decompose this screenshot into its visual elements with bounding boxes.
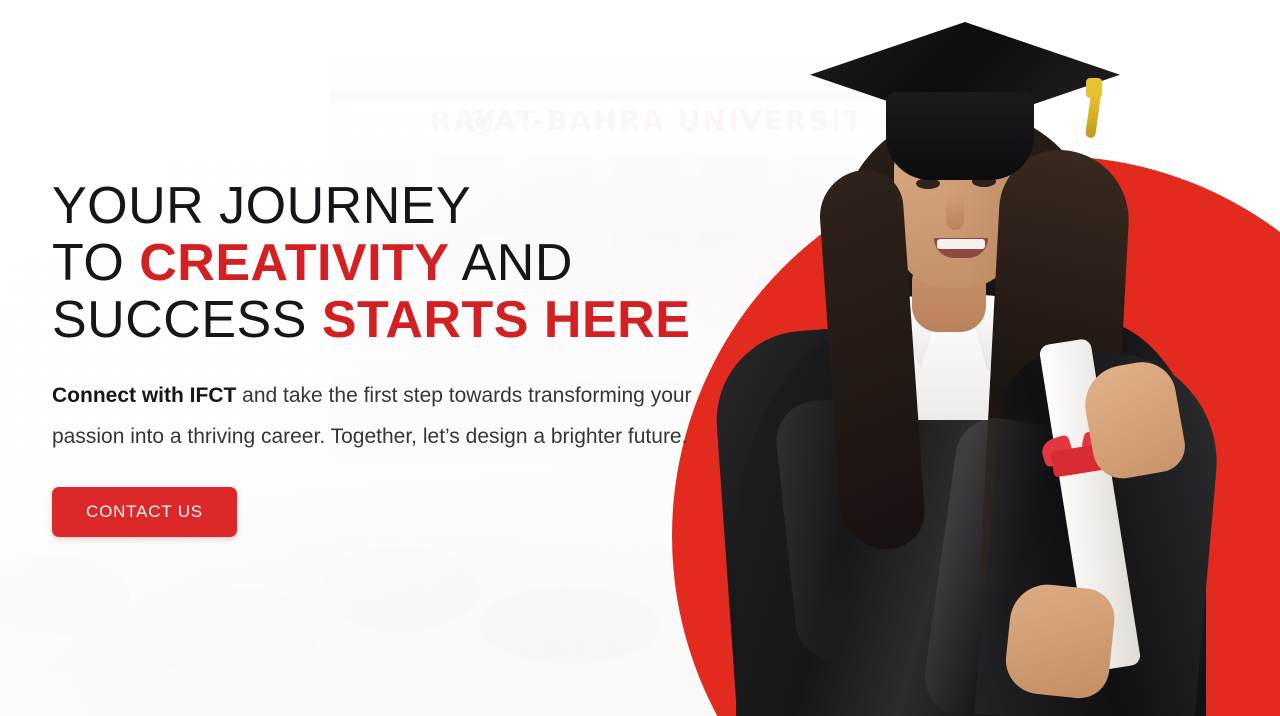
hand-lower — [1003, 581, 1118, 701]
headline-accent-creativity: CREATIVITY — [139, 234, 449, 292]
nose — [946, 196, 964, 230]
headline-line-2-suffix: AND — [450, 234, 573, 292]
headline-accent-starts-here: STARTS HERE — [322, 291, 691, 349]
contact-us-button[interactable]: CONTACT US — [52, 487, 237, 537]
headline-line-2-prefix: TO — [52, 234, 139, 292]
teeth — [937, 239, 985, 249]
gold-tassel-tail — [1085, 94, 1101, 139]
graduate-figure — [690, 0, 1280, 716]
cap-crown — [886, 92, 1034, 180]
headline-line-3-prefix: SUCCESS — [52, 291, 322, 349]
page-title: YOUR JOURNEY TO CREATIVITY AND SUCCESS S… — [52, 178, 692, 349]
headline-line-1: YOUR JOURNEY — [52, 177, 471, 235]
subcopy-strong: Connect with IFCT — [52, 384, 236, 407]
hero-banner: RAYAT-BAHRA UNIVERSIT — [0, 0, 1280, 716]
hero-subcopy: Connect with IFCT and take the first ste… — [52, 375, 692, 457]
hero-copy: YOUR JOURNEY TO CREATIVITY AND SUCCESS S… — [52, 178, 692, 537]
